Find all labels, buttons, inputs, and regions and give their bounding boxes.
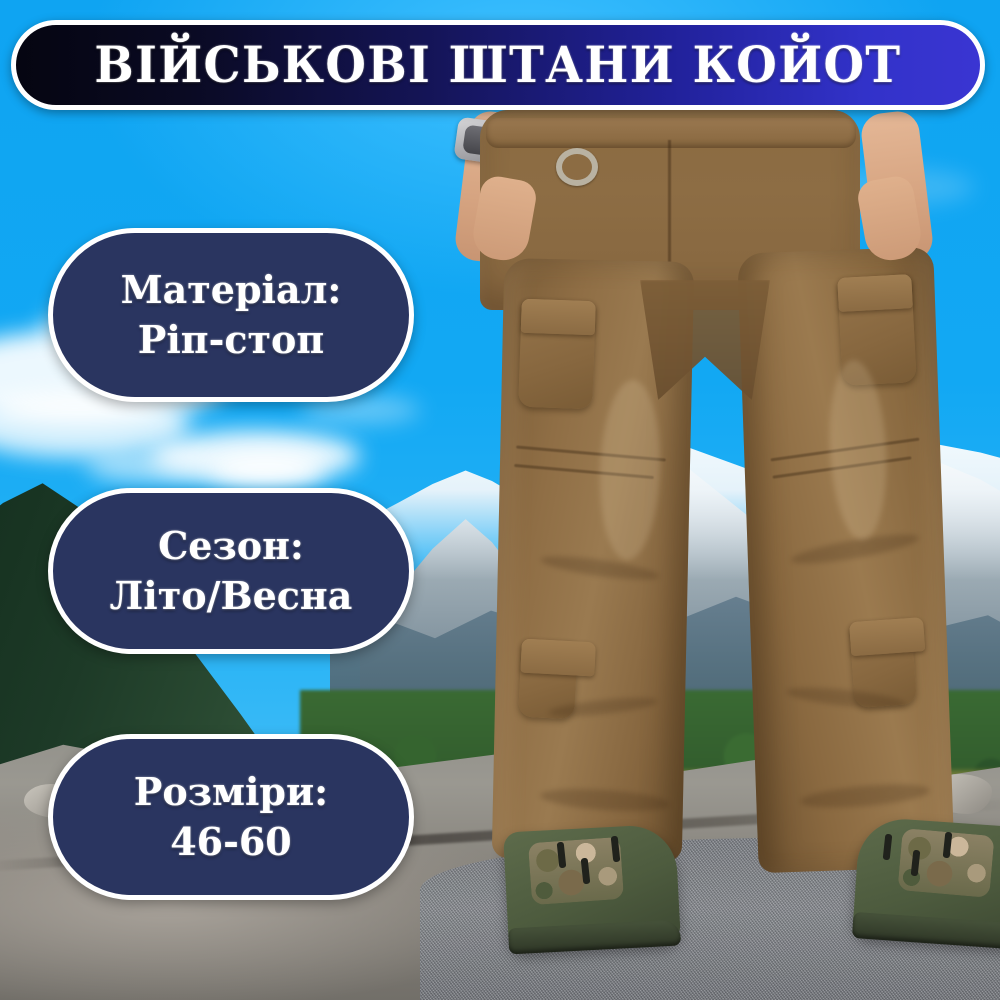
info-badge-material: Матеріал: Ріп-стоп bbox=[48, 228, 414, 402]
info-badge-sizes: Розміри: 46-60 bbox=[48, 734, 414, 900]
trouser-crotch-shadow bbox=[640, 280, 770, 400]
badge-label: Матеріал: bbox=[121, 265, 342, 315]
fly-seam bbox=[668, 140, 671, 270]
badge-label: Розміри: bbox=[134, 767, 328, 817]
badge-label: Сезон: bbox=[158, 521, 304, 571]
cargo-pocket-flap bbox=[837, 274, 913, 312]
cargo-pocket-flap bbox=[520, 639, 596, 677]
trouser-waistband bbox=[486, 118, 856, 148]
cargo-pocket-flap bbox=[521, 299, 596, 336]
page-title: ВІЙСЬКОВІ ШТАНИ КОЙОТ bbox=[94, 40, 901, 90]
product-promo-image: ВІЙСЬКОВІ ШТАНИ КОЙОТ Матеріал: Ріп-стоп… bbox=[0, 0, 1000, 1000]
boot-sole bbox=[852, 912, 1000, 950]
belt-d-ring bbox=[556, 148, 598, 186]
cargo-pocket bbox=[518, 299, 596, 410]
title-banner: ВІЙСЬКОВІ ШТАНИ КОЙОТ bbox=[11, 20, 985, 110]
boot-camo-panel bbox=[528, 837, 624, 905]
badge-value: Ріп-стоп bbox=[138, 315, 324, 365]
cargo-pocket-flap bbox=[849, 617, 925, 656]
badge-value: Літо/Весна bbox=[110, 571, 353, 621]
info-badge-season: Сезон: Літо/Весна bbox=[48, 488, 414, 654]
badge-value: 46-60 bbox=[170, 817, 292, 867]
boot-sole bbox=[508, 919, 681, 954]
